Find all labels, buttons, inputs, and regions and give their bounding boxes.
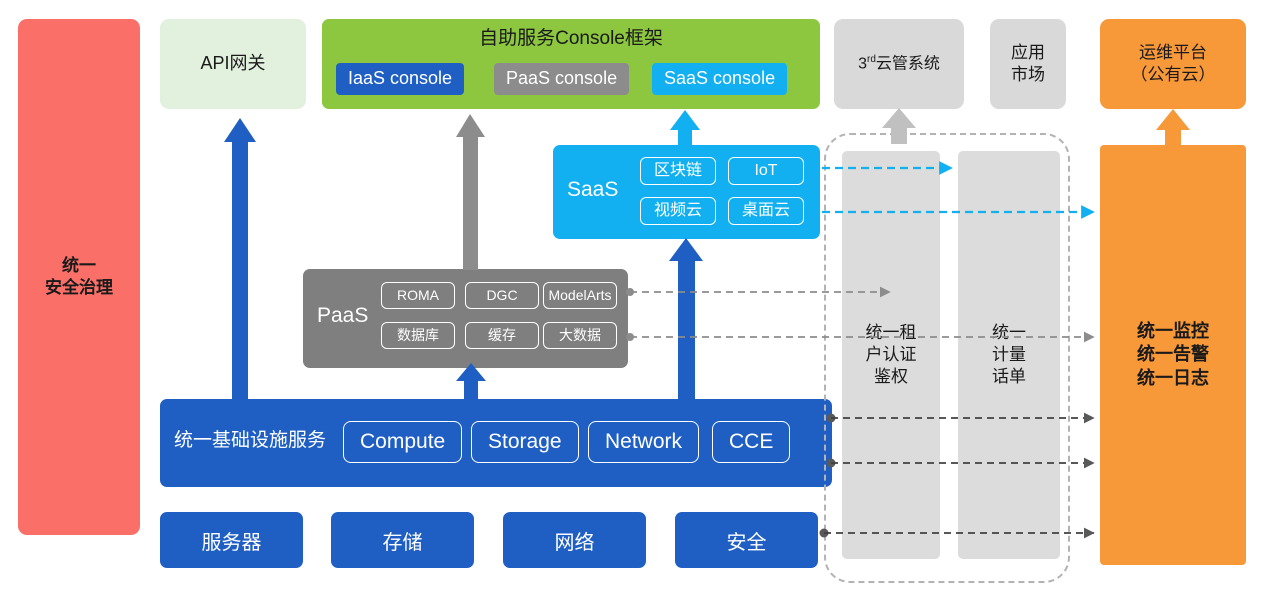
hardware-label: 网络 <box>555 526 595 555</box>
saas-service-label: 视频云 <box>654 201 702 221</box>
paas-service-label: 大数据 <box>559 327 601 345</box>
paas-console-label: PaaS console <box>506 67 617 90</box>
paas-service-label: 数据库 <box>397 327 439 345</box>
arrow-infra-to-saas <box>669 238 703 400</box>
paas-console-chip[interactable]: PaaS console <box>494 63 629 95</box>
infra-service-label: Network <box>605 429 682 456</box>
paas-service-bigdata[interactable]: 大数据 <box>543 322 617 349</box>
paas-service-label: ModelArts <box>548 287 611 305</box>
third-party-cloud-system-label: 3rd云管系统 <box>858 54 940 75</box>
paas-service-dgc[interactable]: DGC <box>465 282 539 309</box>
architecture-diagram: 统一安全治理 API网关 自助服务Console框架 IaaS console … <box>0 0 1265 605</box>
paas-service-label: 缓存 <box>488 327 516 345</box>
infrastructure-layer-label: 统一基础设施服务 <box>174 429 326 453</box>
security-governance-pillar[interactable]: 统一安全治理 <box>18 19 140 535</box>
saas-service-iot[interactable]: IoT <box>728 157 804 185</box>
ops-platform-label: 运维平台（公有云） <box>1131 42 1216 86</box>
infra-service-network[interactable]: Network <box>588 421 699 463</box>
saas-layer-label: SaaS <box>567 177 618 204</box>
infra-service-cce[interactable]: CCE <box>712 421 790 463</box>
saas-service-label: 桌面云 <box>742 201 790 221</box>
app-market-box[interactable]: 应用市场 <box>990 19 1066 109</box>
paas-service-label: DGC <box>486 287 517 305</box>
console-framework-title: 自助服务Console框架 <box>322 27 820 51</box>
app-market-label: 应用市场 <box>1011 42 1045 86</box>
unified-tenant-auth-label: 统一租户认证鉴权 <box>866 322 917 388</box>
unified-metering-billing-label: 统一计量话单 <box>992 322 1026 388</box>
paas-layer-box[interactable]: PaaS ROMA DGC ModelArts 数据库 缓存 大数据 <box>303 269 628 368</box>
iaas-console-label: IaaS console <box>348 67 452 90</box>
paas-layer-label: PaaS <box>317 303 368 330</box>
infra-service-compute[interactable]: Compute <box>343 421 462 463</box>
saas-service-video-cloud[interactable]: 视频云 <box>640 197 716 225</box>
hardware-storage-box[interactable]: 存储 <box>331 512 474 568</box>
arrow-saas-to-saas-console <box>670 110 700 146</box>
infrastructure-layer-box[interactable]: 统一基础设施服务 Compute Storage Network CCE <box>160 399 832 487</box>
paas-service-database[interactable]: 数据库 <box>381 322 455 349</box>
third-party-suffix: 云管系统 <box>876 55 940 72</box>
saas-service-label: IoT <box>754 161 777 181</box>
paas-service-cache[interactable]: 缓存 <box>465 322 539 349</box>
unified-monitoring-panel[interactable]: 统一监控统一告警统一日志 <box>1100 145 1246 565</box>
paas-service-label: ROMA <box>397 287 439 305</box>
arrow-infra-to-paas <box>456 363 486 400</box>
arrow-shared-to-ops-platform <box>1156 109 1190 148</box>
infra-service-label: Compute <box>360 429 445 456</box>
third-party-ordinal-sup: rd <box>867 54 876 65</box>
arrow-paas-to-console <box>456 114 485 270</box>
infra-service-label: CCE <box>729 429 773 456</box>
ops-platform-box[interactable]: 运维平台（公有云） <box>1100 19 1246 109</box>
saas-service-blockchain[interactable]: 区块链 <box>640 157 716 185</box>
unified-metering-billing-column[interactable]: 统一计量话单 <box>958 151 1060 559</box>
api-gateway-box[interactable]: API网关 <box>160 19 306 109</box>
unified-monitoring-label: 统一监控统一告警统一日志 <box>1137 320 1209 389</box>
hardware-server-box[interactable]: 服务器 <box>160 512 303 568</box>
arrow-infra-to-api-gateway <box>224 118 256 400</box>
saas-console-label: SaaS console <box>664 67 775 90</box>
hardware-label: 安全 <box>727 526 767 555</box>
unified-tenant-auth-column[interactable]: 统一租户认证鉴权 <box>842 151 940 559</box>
paas-service-modelarts[interactable]: ModelArts <box>543 282 617 309</box>
iaas-console-chip[interactable]: IaaS console <box>336 63 464 95</box>
hardware-label: 存储 <box>383 526 423 555</box>
hardware-label: 服务器 <box>202 526 262 555</box>
security-governance-label: 统一安全治理 <box>45 255 113 299</box>
console-framework-box[interactable]: 自助服务Console框架 IaaS console PaaS console … <box>322 19 820 109</box>
infra-service-label: Storage <box>488 429 562 456</box>
saas-service-label: 区块链 <box>654 161 702 181</box>
hardware-security-box[interactable]: 安全 <box>675 512 818 568</box>
api-gateway-label: API网关 <box>200 52 265 75</box>
third-party-prefix: 3 <box>858 55 867 72</box>
infra-service-storage[interactable]: Storage <box>471 421 579 463</box>
saas-service-desktop-cloud[interactable]: 桌面云 <box>728 197 804 225</box>
paas-service-roma[interactable]: ROMA <box>381 282 455 309</box>
hardware-network-box[interactable]: 网络 <box>503 512 646 568</box>
third-party-cloud-system-box[interactable]: 3rd云管系统 <box>834 19 964 109</box>
saas-layer-box[interactable]: SaaS 区块链 IoT 视频云 桌面云 <box>553 145 820 239</box>
saas-console-chip[interactable]: SaaS console <box>652 63 787 95</box>
